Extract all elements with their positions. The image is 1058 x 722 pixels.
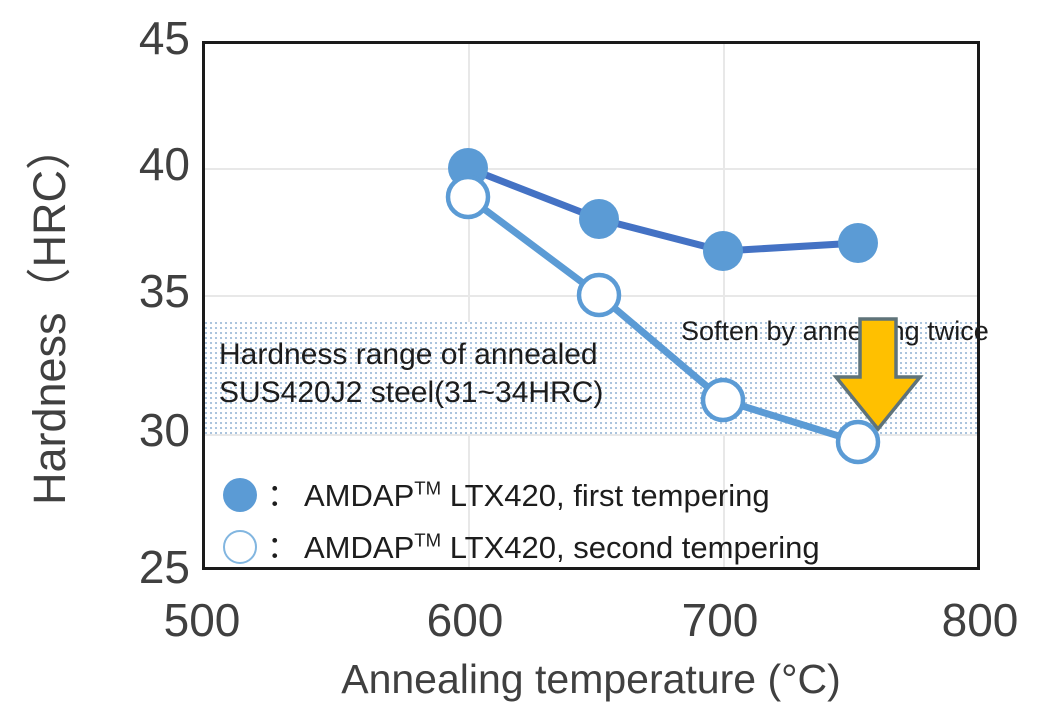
legend-label-first-rest: LTX420, first tempering (441, 478, 770, 513)
legend-marker-open-circle-icon (223, 530, 257, 564)
point-first-705 (703, 231, 743, 271)
legend-label-first-main: AMDAP (304, 478, 414, 513)
point-second-705 (703, 380, 743, 420)
x-axis-title: Annealing temperature (°C) (202, 656, 980, 703)
y-tick-30: 30 (80, 407, 190, 453)
legend-label-second-tempering: AMDAPTM LTX420, second tempering (304, 532, 820, 563)
y-tick-35: 35 (80, 268, 190, 314)
plot-area: Hardness range of annealed SUS420J2 stee… (202, 41, 980, 570)
legend-item-second-tempering: ： AMDAPTM LTX420, second tempering (223, 521, 820, 573)
point-first-755 (838, 223, 878, 263)
legend-colon-second: ： (267, 532, 298, 563)
point-second-600 (448, 177, 488, 217)
legend-label-first-tempering: AMDAPTM LTX420, first tempering (304, 480, 770, 511)
legend-label-second-main: AMDAP (304, 530, 414, 565)
y-tick-45: 45 (80, 15, 190, 61)
x-tick-600: 600 (385, 597, 545, 643)
legend-label-second-sup: TM (414, 529, 441, 550)
x-tick-800: 800 (900, 597, 1058, 643)
x-tick-700: 700 (640, 597, 800, 643)
y-tick-25: 25 (80, 544, 190, 590)
hardness-vs-annealing-temperature-chart: Hardness（HRC） 45 40 35 30 25 500 600 700… (0, 0, 1058, 722)
legend-colon-first: ： (267, 480, 298, 511)
legend-label-second-rest: LTX420, second tempering (441, 530, 820, 565)
x-tick-500: 500 (122, 597, 282, 643)
y-tick-40: 40 (80, 141, 190, 187)
point-second-650 (579, 275, 619, 315)
legend-label-first-sup: TM (414, 477, 441, 498)
legend: ： AMDAPTM LTX420, first tempering ： AMDA… (223, 469, 820, 573)
legend-item-first-tempering: ： AMDAPTM LTX420, first tempering (223, 469, 820, 521)
legend-marker-filled-circle-icon (223, 478, 257, 512)
down-arrow-icon (830, 315, 926, 435)
point-first-650 (579, 199, 619, 239)
